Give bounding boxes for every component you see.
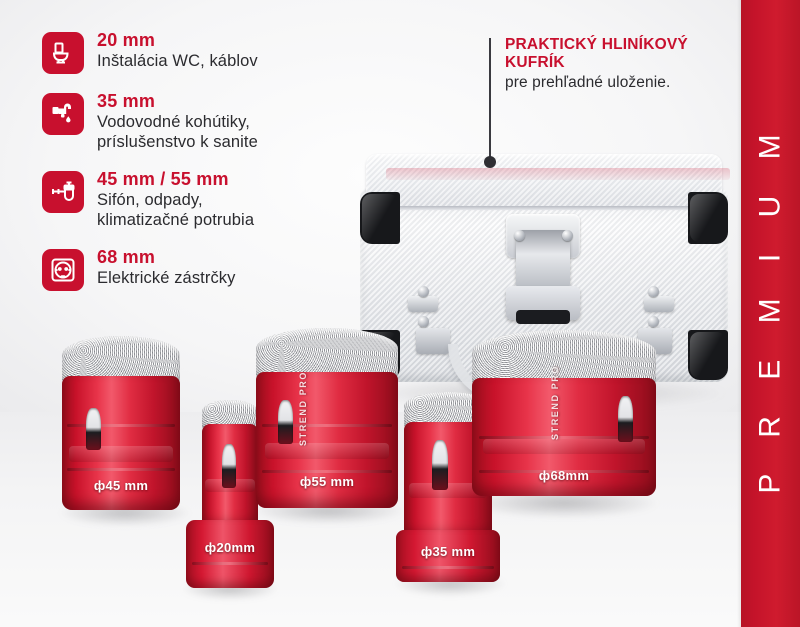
callout-leader-dot (484, 156, 496, 168)
feature-size: 68 mm (97, 247, 236, 267)
toilet-icon (42, 32, 84, 74)
bit-label: ф20mm (186, 540, 274, 555)
bit-brand: STREND PRO (550, 365, 560, 440)
case-corner-bottom-right (688, 330, 728, 380)
bit-slot (618, 396, 633, 442)
feature-size: 45 mm / 55 mm (97, 169, 254, 189)
case-rivet (648, 286, 659, 297)
feature-desc: Vodovodné kohútiky, príslušenstvo k sani… (97, 113, 258, 152)
faucet-icon (42, 93, 84, 135)
bit-slot (432, 440, 448, 490)
feature-size: 20 mm (97, 30, 258, 50)
feature-item-35mm: 35 mm Vodovodné kohútiky, príslušenstvo … (42, 91, 372, 152)
case-red-stripe (386, 168, 730, 180)
callout-case: PRAKTICKÝ HLINÍKOVÝ KUFRÍK pre prehľadné… (505, 36, 745, 92)
drill-bit-68mm: STREND PRO ф68mm (472, 330, 656, 502)
product-banner: ф45 mm ф20mm STREND PRO ф55 mm ф35 mm (0, 0, 800, 627)
feature-desc: Elektrické zástrčky (97, 269, 236, 289)
case-rivet (648, 316, 659, 327)
bit-slot (278, 400, 293, 444)
socket-icon (42, 249, 84, 291)
latch-hook (516, 230, 570, 290)
bit-label: ф55 mm (256, 474, 398, 489)
case-hinge-left (408, 296, 438, 312)
case-rivet (418, 286, 429, 297)
callout-leader-line (489, 38, 491, 160)
feature-list: 20 mm Inštalácia WC, káblov 35 mm Vodovo… (42, 30, 372, 308)
bit-brand: STREND PRO (298, 371, 308, 446)
callout-title: PRAKTICKÝ HLINÍKOVÝ KUFRÍK (505, 36, 745, 71)
premium-banner-text: P R E M I U M (754, 120, 788, 507)
feature-desc: Inštalácia WC, káblov (97, 52, 258, 72)
feature-item-68mm: 68 mm Elektrické zástrčky (42, 247, 372, 291)
case-latch (500, 214, 586, 324)
drill-bit-55mm: STREND PRO ф55 mm (256, 328, 398, 510)
feature-size: 35 mm (97, 91, 258, 111)
case-side-latch-left (416, 328, 450, 354)
case-corner-top-right (688, 192, 728, 244)
bit-label: ф35 mm (396, 544, 500, 559)
latch-rivet (514, 230, 525, 241)
callout-subtitle: pre prehľadné uloženie. (505, 73, 745, 92)
case-lid-seam (366, 206, 722, 210)
feature-item-20mm: 20 mm Inštalácia WC, káblov (42, 30, 372, 74)
case-rivet (418, 316, 429, 327)
latch-foot (516, 310, 570, 324)
latch-rivet (562, 230, 573, 241)
case-hinge-right (644, 296, 674, 312)
premium-banner: P R E M I U M (741, 0, 800, 627)
bit-label: ф45 mm (62, 478, 180, 493)
feature-desc: Sifón, odpady, klimatizačné potrubia (97, 191, 254, 230)
siphon-icon (42, 171, 84, 213)
bit-slot (222, 444, 236, 488)
feature-item-45-55mm: 45 mm / 55 mm Sifón, odpady, klimatizačn… (42, 169, 372, 230)
bit-label: ф68mm (472, 468, 656, 483)
bit-slot (86, 408, 101, 450)
case-lid (366, 154, 722, 208)
drill-bit-45mm: ф45 mm (62, 336, 180, 512)
